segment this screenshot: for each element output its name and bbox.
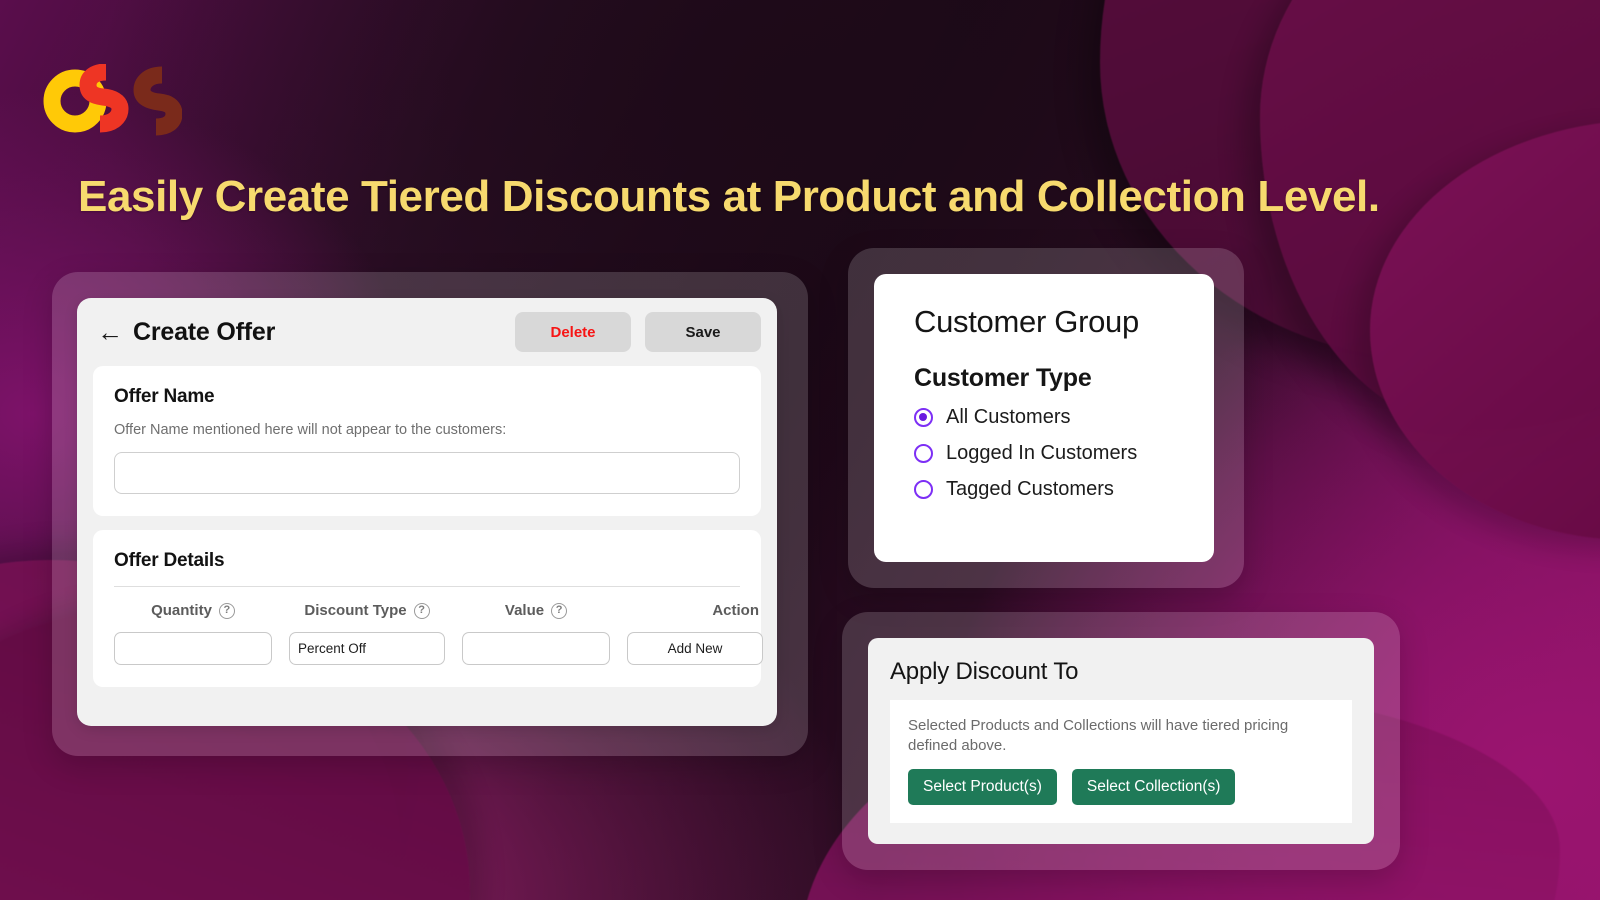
osc-logo: [42, 64, 182, 138]
column-label-discount-type: Discount Type: [304, 602, 406, 619]
apply-discount-description: Selected Products and Collections will h…: [908, 716, 1334, 755]
offer-name-panel: Offer Name Offer Name mentioned here wil…: [93, 366, 761, 516]
offer-details-panel: Offer Details Quantity ? Discount Type ?…: [93, 530, 761, 687]
radio-label-logged-in-customers: Logged In Customers: [946, 442, 1137, 465]
column-label-quantity: Quantity: [151, 602, 212, 619]
apply-discount-inner: Selected Products and Collections will h…: [890, 700, 1352, 823]
offer-name-input[interactable]: [114, 452, 740, 494]
page-headline: Easily Create Tiered Discounts at Produc…: [78, 172, 1380, 222]
quantity-input[interactable]: [114, 632, 272, 665]
column-header-action: Action: [627, 602, 763, 619]
help-icon-discount-type[interactable]: ?: [414, 603, 430, 619]
radio-icon-logged-in-customers[interactable]: [914, 444, 933, 463]
customer-type-label: Customer Type: [914, 364, 1184, 393]
help-icon-quantity[interactable]: ?: [219, 603, 235, 619]
create-offer-card: ← Create Offer Delete Save Offer Name Of…: [77, 298, 777, 726]
customer-group-card: Customer Group Customer Type All Custome…: [874, 274, 1214, 562]
back-arrow-icon[interactable]: ←: [97, 319, 123, 345]
radio-label-all-customers: All Customers: [946, 406, 1070, 429]
column-label-action: Action: [712, 602, 759, 619]
column-label-value: Value: [505, 602, 544, 619]
offer-panel-frame: ← Create Offer Delete Save Offer Name Of…: [52, 272, 808, 756]
offer-name-description: Offer Name mentioned here will not appea…: [114, 422, 740, 438]
customer-group-title: Customer Group: [914, 304, 1184, 340]
radio-option-all-customers[interactable]: All Customers: [914, 406, 1184, 429]
offer-details-divider: [114, 586, 740, 587]
offer-details-title: Offer Details: [114, 550, 740, 572]
select-collections-button[interactable]: Select Collection(s): [1072, 769, 1236, 805]
discount-type-select[interactable]: Percent OffAmount OffFixed Price: [289, 632, 445, 665]
customer-group-frame: Customer Group Customer Type All Custome…: [848, 248, 1244, 588]
apply-discount-buttons: Select Product(s) Select Collection(s): [908, 769, 1334, 805]
offer-details-row: Percent OffAmount OffFixed Price Add New: [114, 632, 740, 665]
column-header-value: Value ?: [462, 602, 610, 619]
column-header-quantity: Quantity ?: [114, 602, 272, 619]
radio-option-logged-in-customers[interactable]: Logged In Customers: [914, 442, 1184, 465]
delete-button[interactable]: Delete: [515, 312, 631, 352]
create-offer-header: ← Create Offer Delete Save: [77, 298, 777, 366]
value-input[interactable]: [462, 632, 610, 665]
offer-details-column-headers: Quantity ? Discount Type ? Value ? Actio…: [114, 602, 740, 619]
apply-discount-title: Apply Discount To: [890, 658, 1352, 686]
apply-discount-card: Apply Discount To Selected Products and …: [868, 638, 1374, 844]
save-button[interactable]: Save: [645, 312, 761, 352]
page-title: Create Offer: [133, 318, 275, 347]
promo-banner: Easily Create Tiered Discounts at Produc…: [0, 0, 1600, 900]
column-header-discount-type: Discount Type ?: [289, 602, 445, 619]
add-new-button[interactable]: Add New: [627, 632, 763, 665]
radio-option-tagged-customers[interactable]: Tagged Customers: [914, 478, 1184, 501]
apply-discount-frame: Apply Discount To Selected Products and …: [842, 612, 1400, 870]
radio-label-tagged-customers: Tagged Customers: [946, 478, 1114, 501]
offer-name-title: Offer Name: [114, 386, 740, 408]
help-icon-value[interactable]: ?: [551, 603, 567, 619]
radio-icon-all-customers[interactable]: [914, 408, 933, 427]
select-products-button[interactable]: Select Product(s): [908, 769, 1057, 805]
radio-icon-tagged-customers[interactable]: [914, 480, 933, 499]
